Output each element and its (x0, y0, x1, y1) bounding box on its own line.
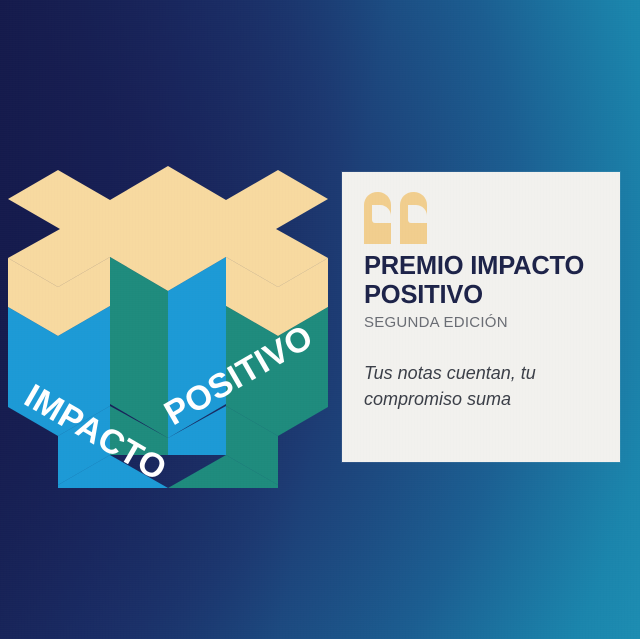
quote-glyph-right (400, 192, 427, 244)
card-content: PREMIO IMPACTO POSITIVO SEGUNDA EDICIÓN … (364, 192, 604, 412)
announcement-card: PREMIO IMPACTO POSITIVO SEGUNDA EDICIÓN … (342, 172, 620, 462)
card-subtitle: SEGUNDA EDICIÓN (364, 314, 604, 331)
poster-canvas: IMPACTO POSITIVO PREMIO IMPACTO POSITIVO… (0, 0, 640, 639)
quote-glyph-left (364, 192, 391, 244)
impacto-positivo-logo: IMPACTO POSITIVO (8, 158, 328, 488)
card-title: PREMIO IMPACTO POSITIVO (364, 252, 604, 310)
card-tagline: Tus notas cuentan, tu compromiso suma (364, 361, 590, 412)
double-quote-icon (364, 192, 604, 244)
logo-isometric-cube-icon: IMPACTO POSITIVO (8, 158, 328, 488)
logo-top-cross (8, 166, 328, 291)
